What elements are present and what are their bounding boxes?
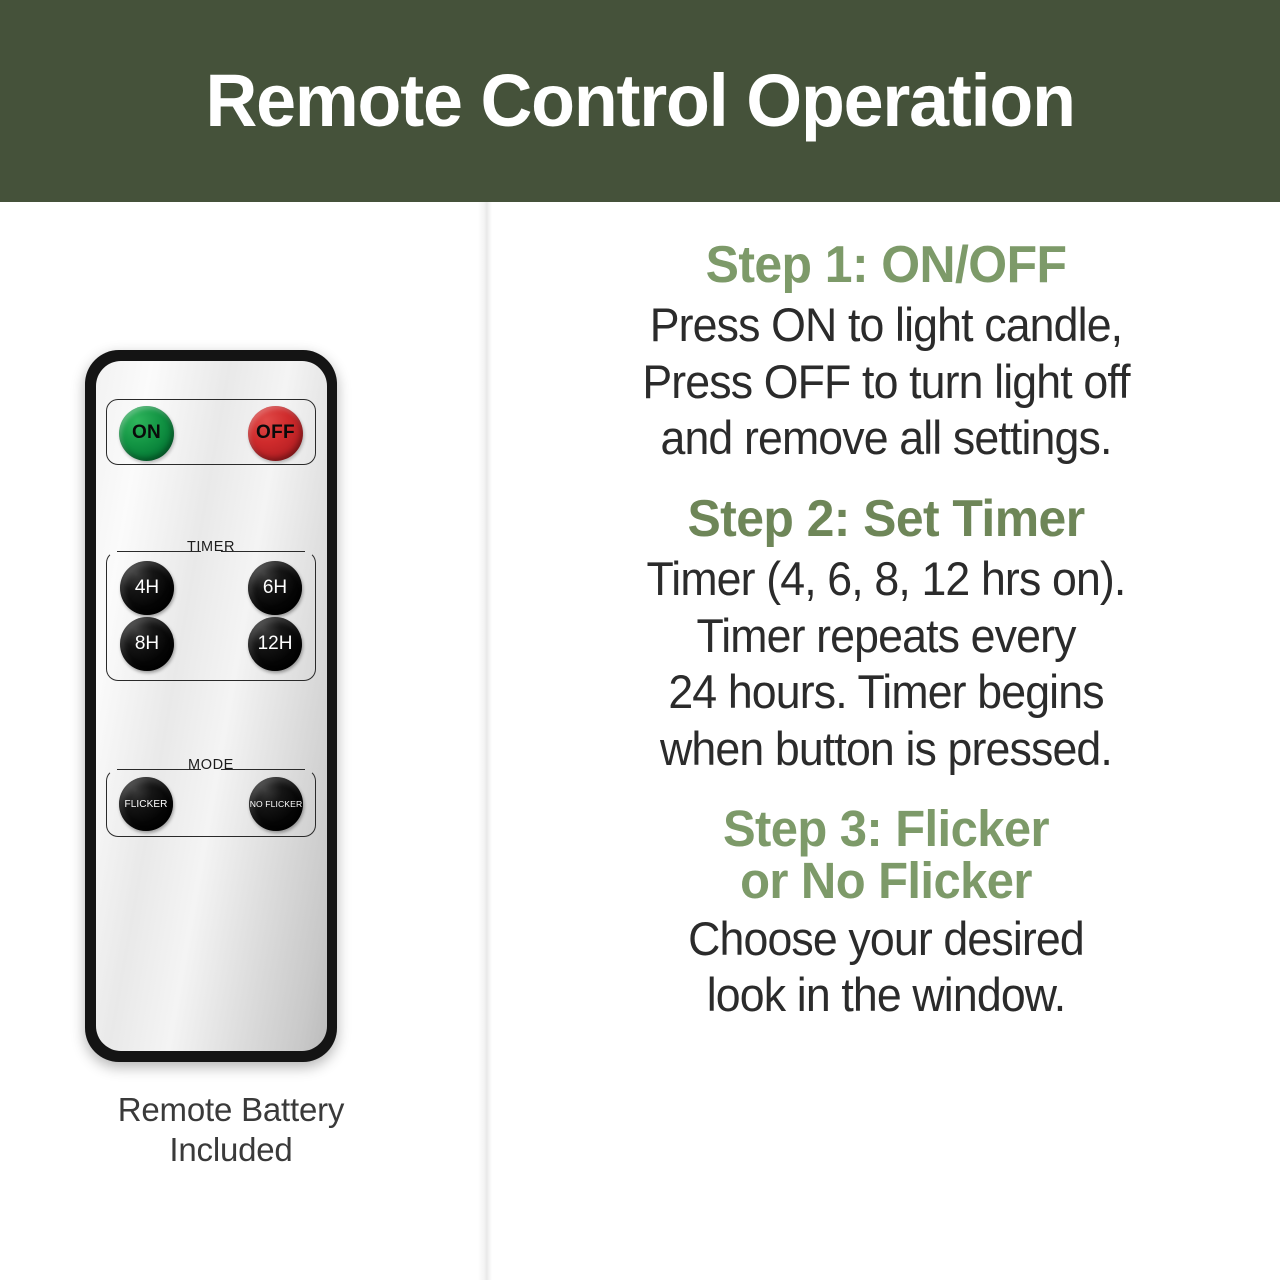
step-2-body-line-1: Timer (4, 6, 8, 12 hrs on). <box>529 551 1243 607</box>
page-title: Remote Control Operation <box>205 64 1074 138</box>
header-banner: Remote Control Operation <box>0 0 1280 202</box>
page-root: Remote Control Operation ON OFF TIMER 4H… <box>0 0 1280 1280</box>
remote-button-off[interactable]: OFF <box>248 406 303 461</box>
remote-caption: Remote Battery Included <box>0 1090 462 1171</box>
step-3-heading: Step 3: Flicker or No Flicker <box>525 803 1247 907</box>
step-3-heading-line-2: or No Flicker <box>525 855 1247 907</box>
step-2-heading: Step 2: Set Timer <box>525 492 1247 547</box>
remote-button-flicker[interactable]: FLICKER <box>119 777 173 831</box>
remote-button-timer-12h[interactable]: 12H <box>248 617 302 671</box>
step-3: Step 3: Flicker or No Flicker Choose you… <box>510 803 1262 1024</box>
step-3-heading-line-1: Step 3: Flicker <box>525 803 1247 855</box>
step-2-body-line-3: 24 hours. Timer begins <box>529 664 1243 720</box>
remote-button-on[interactable]: ON <box>119 406 174 461</box>
step-1: Step 1: ON/OFF Press ON to light candle,… <box>510 238 1262 466</box>
step-1-body-line-1: Press ON to light candle, <box>529 297 1243 353</box>
instructions-column: Step 1: ON/OFF Press ON to light candle,… <box>492 202 1280 1280</box>
remote-section-onoff: ON OFF <box>106 399 316 465</box>
step-2-body-line-4: when button is pressed. <box>529 721 1243 777</box>
step-3-body: Choose your desired look in the window. <box>529 911 1243 1024</box>
step-1-body-line-2: Press OFF to turn light off <box>529 354 1243 410</box>
step-2: Step 2: Set Timer Timer (4, 6, 8, 12 hrs… <box>510 492 1262 777</box>
step-3-body-line-1: Choose your desired <box>529 911 1243 967</box>
left-column: ON OFF TIMER 4H 6H 8H 12H MODE <box>0 202 478 1280</box>
column-divider <box>478 202 492 1280</box>
remote-button-timer-4h[interactable]: 4H <box>120 561 174 615</box>
step-1-body: Press ON to light candle, Press OFF to t… <box>529 297 1243 466</box>
remote-section-mode: MODE FLICKER NO FLICKER <box>106 769 316 837</box>
candle-remote-control: ON OFF TIMER 4H 6H 8H 12H MODE <box>85 350 337 1062</box>
remote-button-no-flicker[interactable]: NO FLICKER <box>249 777 303 831</box>
remote-section-mode-label: MODE <box>107 757 315 773</box>
remote-caption-line-2: Included <box>0 1130 462 1170</box>
remote-caption-line-1: Remote Battery <box>0 1090 462 1130</box>
remote-button-timer-8h[interactable]: 8H <box>120 617 174 671</box>
remote-button-timer-6h[interactable]: 6H <box>248 561 302 615</box>
step-3-body-line-2: look in the window. <box>529 967 1243 1023</box>
remote-faceplate: ON OFF TIMER 4H 6H 8H 12H MODE <box>96 361 327 1051</box>
step-1-body-line-3: and remove all settings. <box>529 410 1243 466</box>
step-2-body-line-2: Timer repeats every <box>529 608 1243 664</box>
step-2-body: Timer (4, 6, 8, 12 hrs on). Timer repeat… <box>529 551 1243 777</box>
remote-section-timer: TIMER 4H 6H 8H 12H <box>106 551 316 681</box>
remote-section-timer-label: TIMER <box>107 539 315 555</box>
step-1-heading: Step 1: ON/OFF <box>525 238 1247 293</box>
